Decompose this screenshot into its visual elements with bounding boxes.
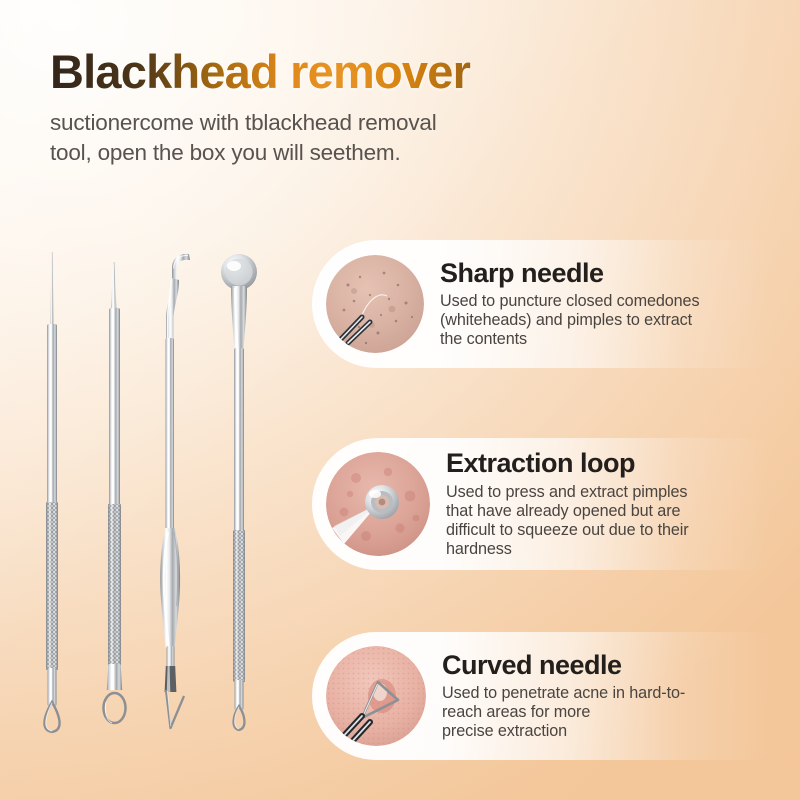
feature-description: Used to puncture closed comedones (white… [440, 292, 699, 349]
card-text-block: Curved needle Used to penetrate acne in … [442, 651, 695, 742]
feature-title: Curved needle [442, 651, 685, 681]
feature-card-sharp-needle[interactable]: Sharp needle Used to puncture closed com… [312, 240, 800, 368]
feature-card-extraction-loop[interactable]: Extraction loop Used to press and extrac… [312, 438, 800, 570]
curved-needle-photo [326, 646, 426, 746]
product-tools-group [0, 250, 300, 770]
tool-thin-sharp-needle [22, 250, 82, 750]
header: Blackhead remover suctionercome with tbl… [50, 48, 670, 169]
tool-thick-sharp-needle [83, 250, 145, 750]
feature-title: Sharp needle [440, 259, 699, 289]
tool-curved-hook [148, 250, 210, 750]
page-title: Blackhead remover [50, 48, 670, 97]
feature-description: Used to penetrate acne in hard-to- reach… [442, 684, 685, 741]
feature-description: Used to press and extract pimples that h… [446, 483, 689, 559]
sharp-needle-photo [326, 255, 424, 353]
card-text-block: Sharp needle Used to puncture closed com… [440, 259, 709, 350]
page-subtitle: suctionercome with tblackhead removal to… [50, 108, 670, 169]
extraction-loop-photo [326, 452, 430, 556]
tool-extraction-loop [208, 250, 270, 750]
feature-card-curved-needle[interactable]: Curved needle Used to penetrate acne in … [312, 632, 800, 760]
card-text-block: Extraction loop Used to press and extrac… [446, 449, 699, 559]
feature-title: Extraction loop [446, 449, 689, 479]
